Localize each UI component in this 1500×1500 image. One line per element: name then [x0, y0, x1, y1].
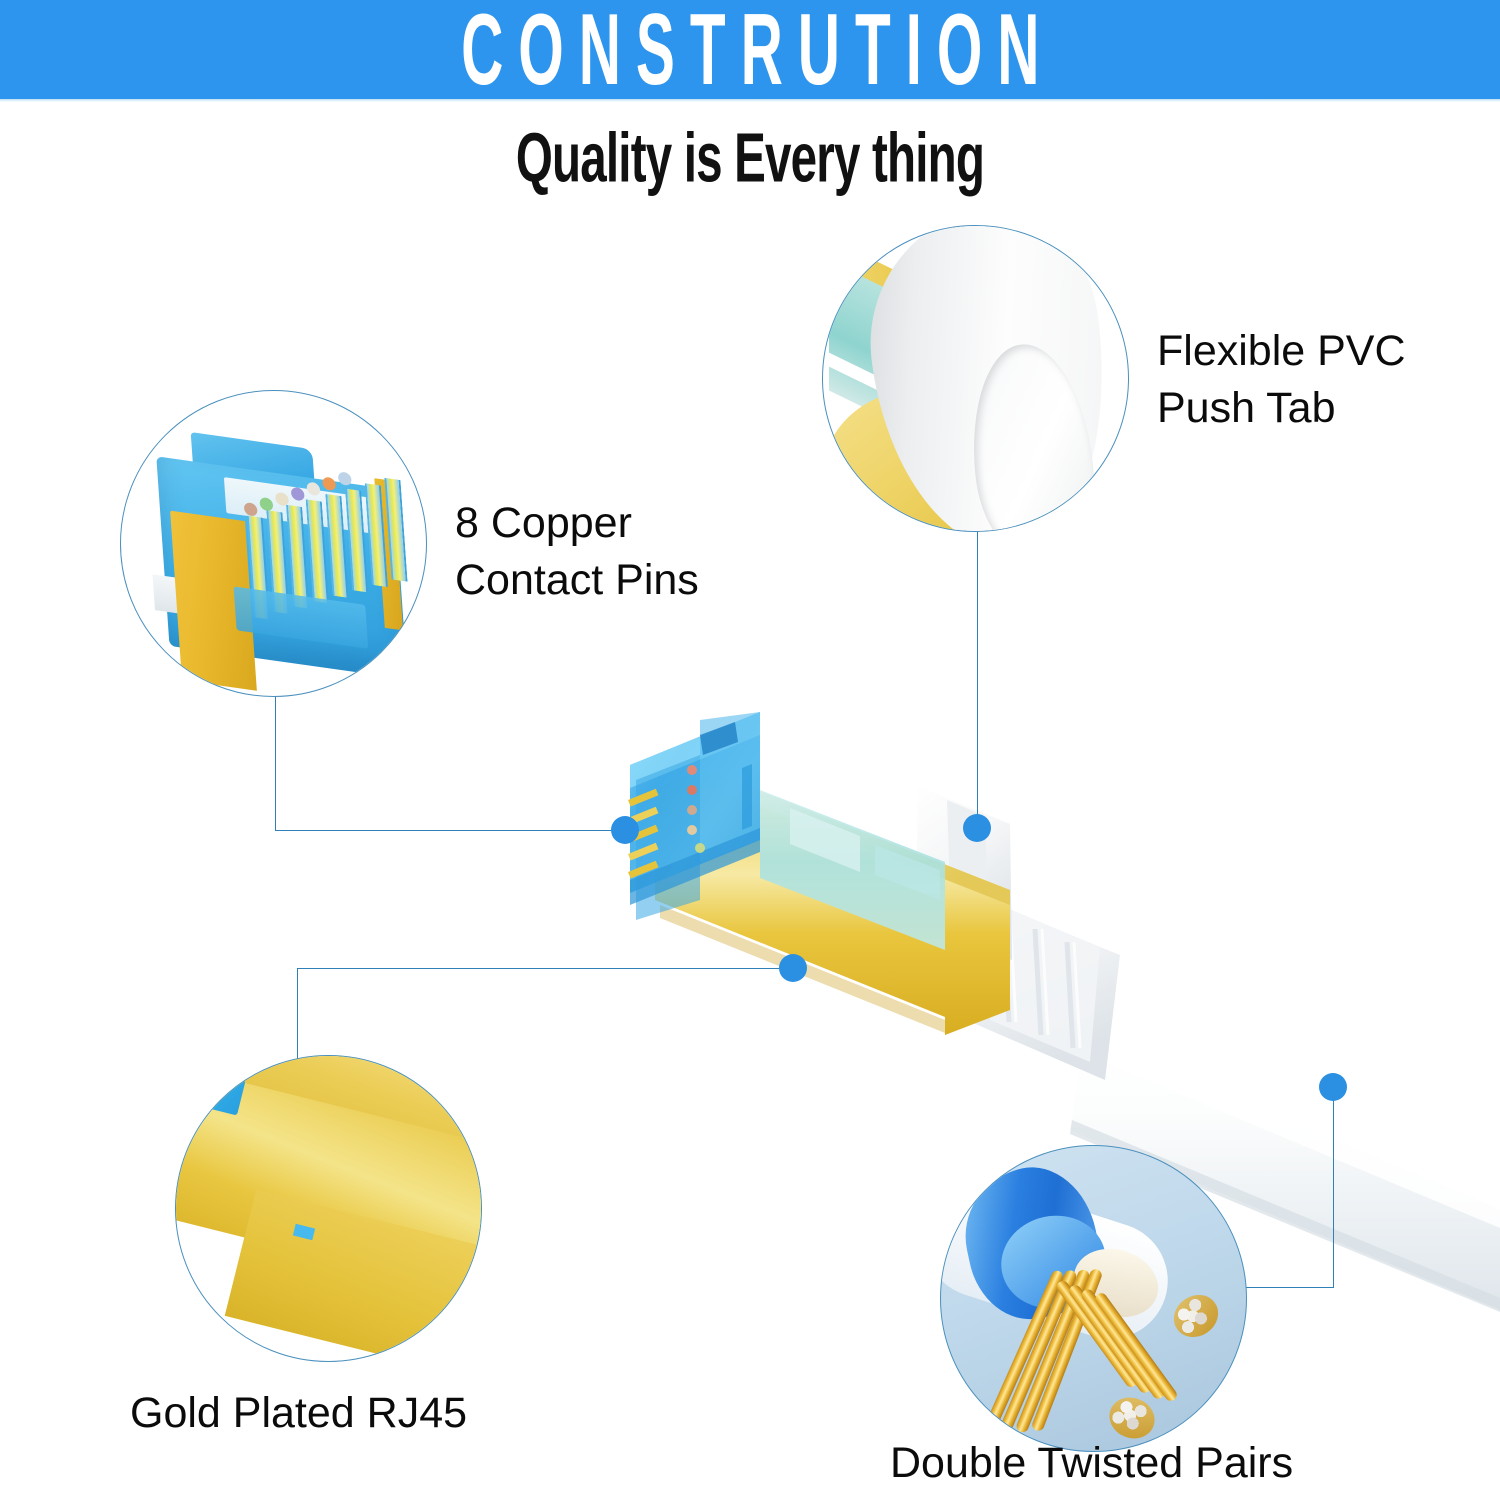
infographic-canvas: CONSTRUTION Quality is Every thing [0, 0, 1500, 1500]
leader-line-gold-vertical [297, 968, 298, 1063]
callout-label-copper-pins: 8 Copper Contact Pins [455, 495, 699, 609]
leader-line-copper-pins-horizontal [275, 830, 625, 831]
callout-circle-copper-pins[interactable] [120, 390, 427, 697]
page-title: CONSTRUTION [446, 0, 1054, 104]
header-divider [0, 99, 1500, 102]
leader-line-gold-horizontal [297, 968, 793, 969]
callout-circle-push-tab[interactable] [822, 225, 1129, 532]
leader-line-push-tab-vertical [977, 528, 978, 828]
leader-line-twisted-vertical [1333, 1087, 1334, 1287]
callout-circle-gold-plated[interactable] [175, 1055, 482, 1362]
leader-line-twisted-horizontal [1245, 1287, 1334, 1288]
callout-label-gold-plated: Gold Plated RJ45 [130, 1385, 467, 1442]
header-bar: CONSTRUTION [0, 0, 1500, 99]
marker-dot-gold-plated[interactable] [779, 954, 807, 982]
marker-dot-copper-pins[interactable] [611, 816, 639, 844]
subtitle: Quality is Every thing [135, 118, 1365, 198]
callout-label-push-tab: Flexible PVC Push Tab [1157, 323, 1406, 437]
rj45-connector-illustration [142, 412, 414, 684]
marker-dot-push-tab[interactable] [963, 814, 991, 842]
leader-line-copper-pins-vertical [275, 695, 276, 830]
callout-circle-twisted-pairs[interactable] [940, 1145, 1247, 1452]
callout-label-twisted-pairs: Double Twisted Pairs [890, 1435, 1293, 1492]
marker-dot-twisted-pairs[interactable] [1319, 1073, 1347, 1101]
